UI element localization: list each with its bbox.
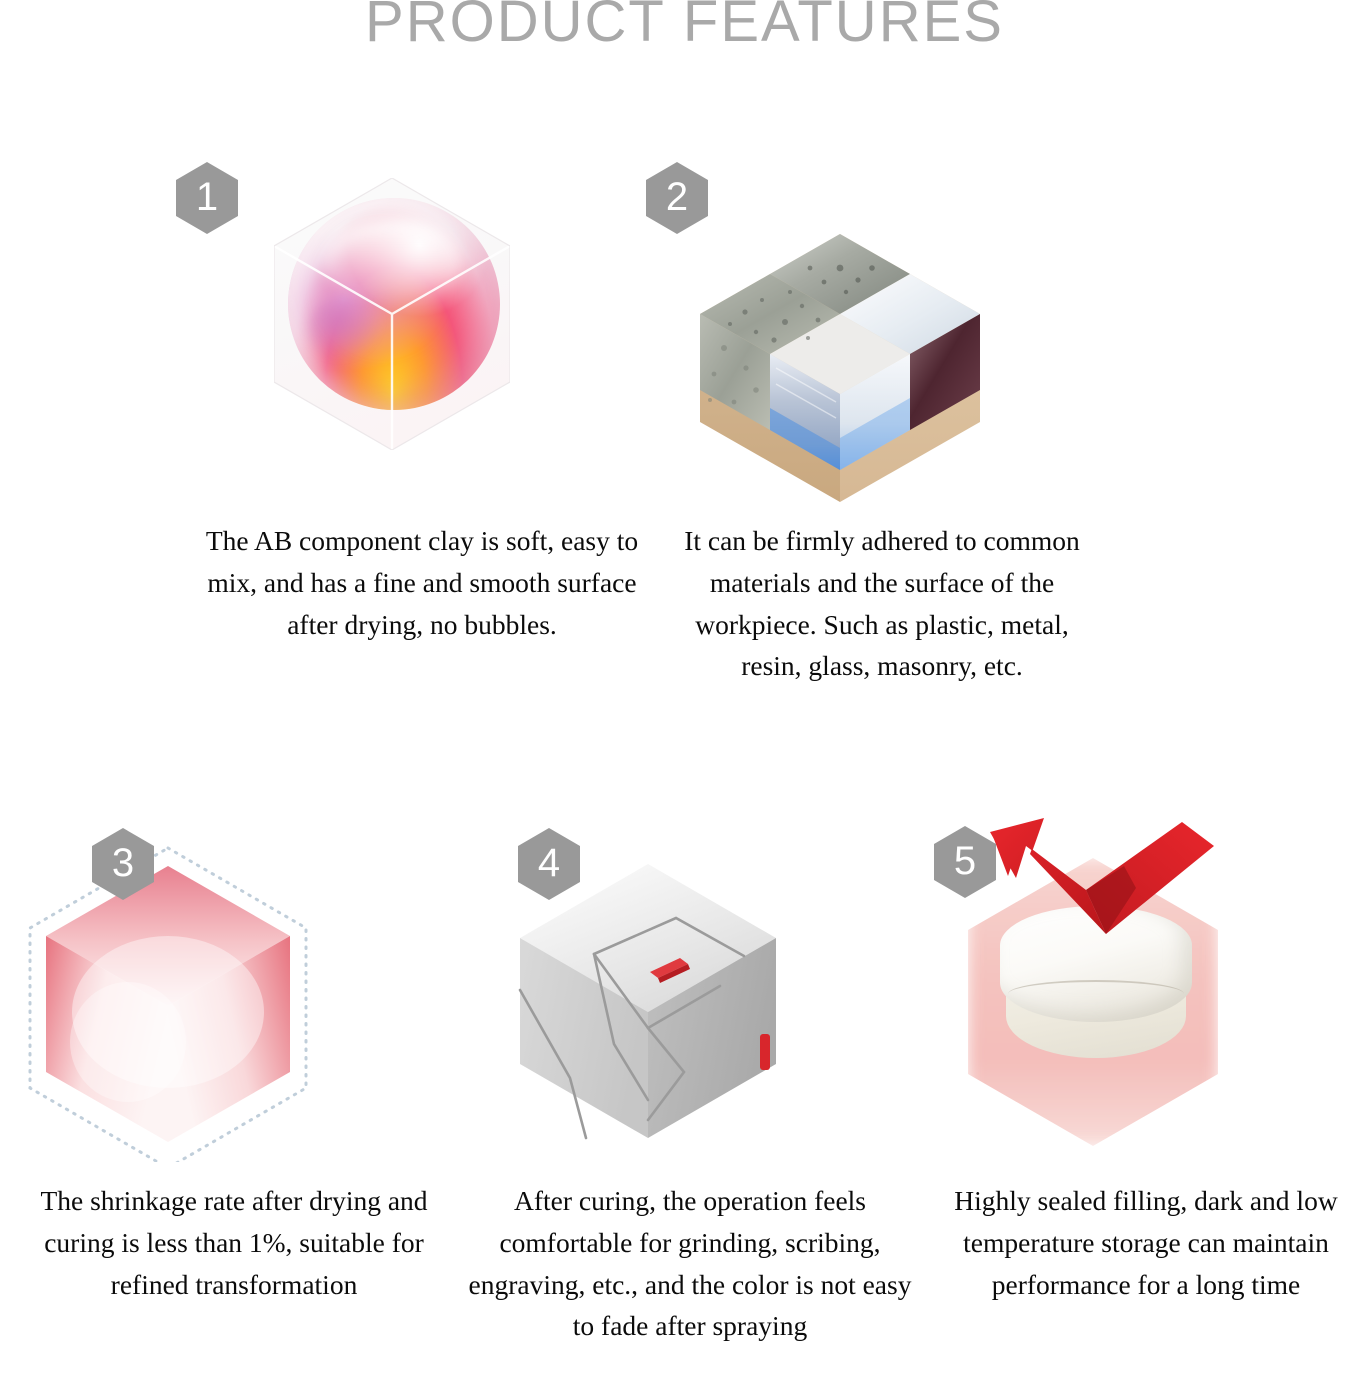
feature-2-illustration: 2	[656, 150, 1096, 520]
page-title: PRODUCT FEATURES	[0, 0, 1369, 55]
pink-cube-icon	[18, 832, 318, 1162]
jar-seam	[1008, 980, 1184, 1008]
feature-1-illustration: 1	[196, 150, 636, 520]
feature-number-label-4: 4	[538, 843, 560, 883]
feature-card-1: 1 The AB component clay is soft, easy to…	[196, 150, 636, 687]
material-cube-icon	[690, 172, 990, 502]
feature-caption-3: The shrinkage rate after drying and curi…	[0, 1180, 468, 1305]
feature-card-2: 2	[656, 150, 1096, 687]
feature-4-illustration: 4	[456, 810, 912, 1180]
feature-number-label-1: 1	[196, 177, 218, 217]
feature-card-3: 3	[0, 810, 456, 1347]
feature-card-4: 4	[456, 810, 912, 1347]
feature-caption-1: The AB component clay is soft, easy to m…	[196, 520, 648, 645]
features-row-bottom: 3	[0, 810, 1369, 1347]
feature-number-label-2: 2	[666, 177, 688, 217]
feature-number-label-5: 5	[954, 841, 976, 881]
feature-5-illustration: 5	[912, 810, 1368, 1180]
feature-caption-4: After curing, the operation feels comfor…	[456, 1180, 924, 1347]
features-row-top: 1 The AB component clay is soft, easy to…	[0, 150, 1369, 687]
red-down-arrow-icon	[986, 816, 1216, 946]
feature-card-5: 5	[912, 810, 1368, 1347]
feature-caption-5: Highly sealed filling, dark and low temp…	[912, 1180, 1369, 1305]
feature-number-label-3: 3	[112, 843, 134, 883]
feature-caption-2: It can be firmly adhered to common mater…	[656, 520, 1108, 687]
feature-3-illustration: 3	[0, 810, 456, 1180]
feature-number-badge-1: 1	[176, 162, 238, 234]
iridescent-sphere-icon	[288, 198, 500, 410]
